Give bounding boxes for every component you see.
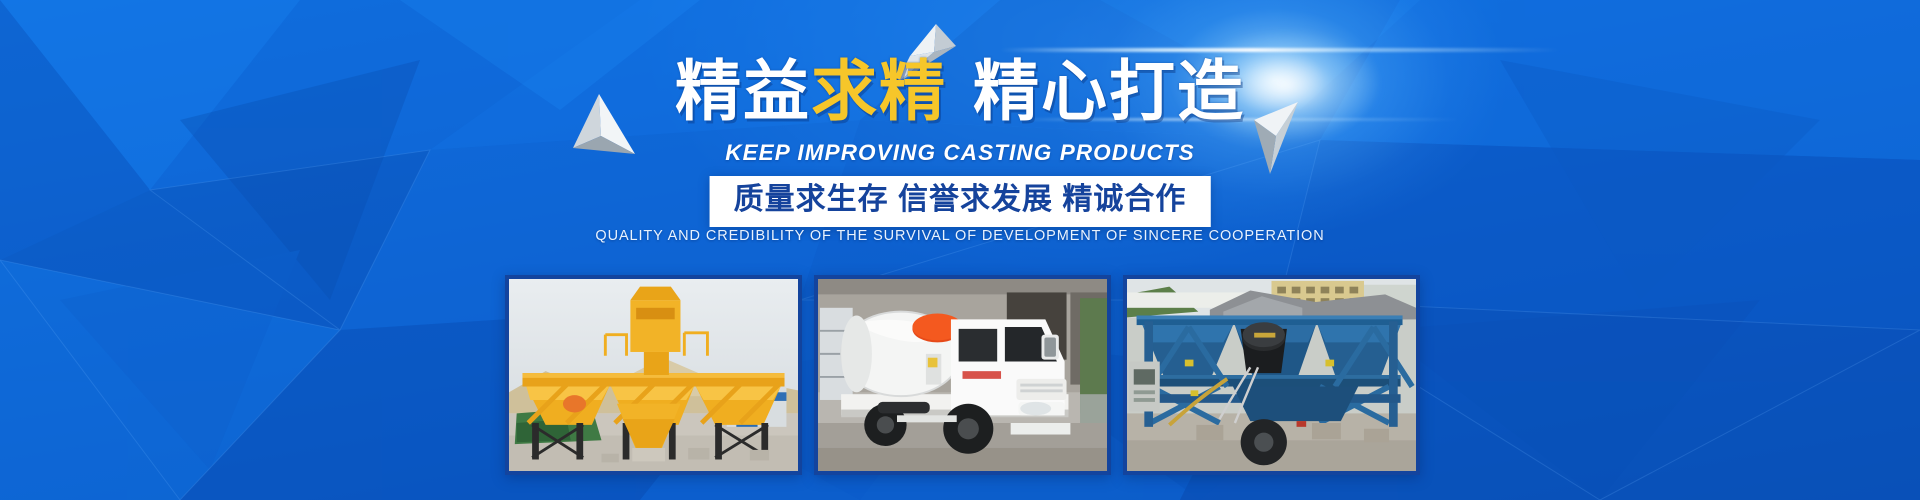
photo-gallery: Yellow concrete batching plant with aggr… [505, 275, 1420, 475]
gallery-photo-mobile-plant-blue[interactable]: Blue mobile concrete batching plant on t… [1123, 275, 1420, 475]
headline: 精益求精精心打造 [0, 58, 1920, 124]
slogan-bar: 质量求生存 信誉求发展 精诚合作 [710, 176, 1211, 227]
headline-part-2: 求精 [811, 54, 947, 128]
gallery-photo-mixer-truck-white[interactable]: White concrete mixer truck parked in wor… [814, 275, 1111, 475]
headline-part-1: 精益 [675, 54, 811, 128]
slogan-text: 质量求生存 信誉求发展 精诚合作 [734, 183, 1187, 218]
promo-banner: 精益求精精心打造 KEEP IMPROVING CASTING PRODUCTS… [0, 0, 1920, 500]
subtitle-english: KEEP IMPROVING CASTING PRODUCTS [0, 140, 1920, 166]
gallery-photo-batching-plant-yellow[interactable]: Yellow concrete batching plant with aggr… [505, 275, 802, 475]
headline-part-3: 精心打造 [973, 54, 1245, 128]
slogan-english: QUALITY AND CREDIBILITY OF THE SURVIVAL … [0, 228, 1920, 244]
